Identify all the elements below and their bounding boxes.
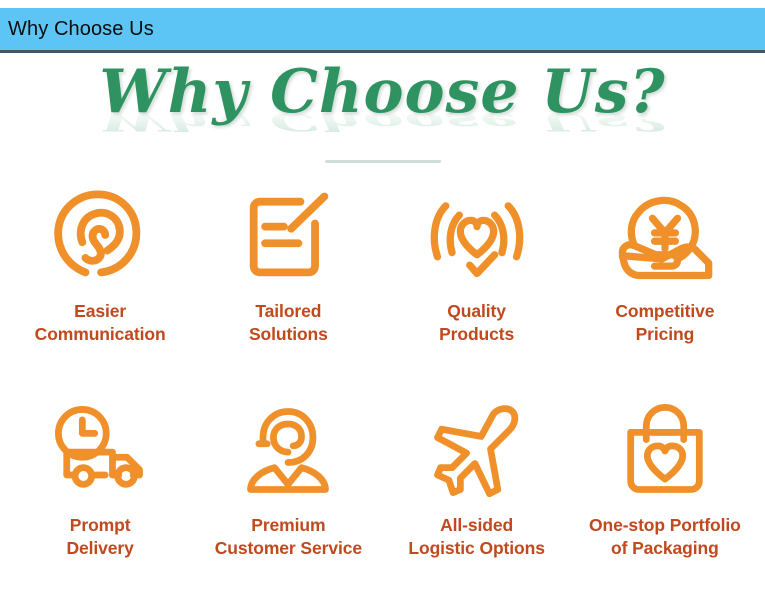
feature-label: Tailored Solutions	[249, 300, 328, 347]
shopping-bag-heart-icon	[613, 398, 717, 502]
feature-label: One-stop Portfolio of Packaging	[589, 514, 741, 561]
headset-agent-icon	[236, 398, 340, 502]
feature-item-easier-communication[interactable]: Easier Communication	[6, 174, 194, 388]
page-content: Why Choose Us? Why Choose Us? Easier Com…	[0, 56, 765, 599]
feature-item-one-stop-portfolio-packaging[interactable]: One-stop Portfolio of Packaging	[571, 388, 759, 602]
document-pen-icon	[236, 184, 340, 288]
feature-item-quality-products[interactable]: Quality Products	[383, 174, 571, 388]
feature-item-prompt-delivery[interactable]: Prompt Delivery	[6, 388, 194, 602]
feature-label: Prompt Delivery	[66, 514, 133, 561]
feature-grid: Easier Communication Tailored Solutions	[0, 174, 765, 602]
hero-title: Why Choose Us?	[0, 62, 765, 122]
feature-item-premium-customer-service[interactable]: Premium Customer Service	[194, 388, 382, 602]
feature-item-tailored-solutions[interactable]: Tailored Solutions	[194, 174, 382, 388]
feature-label: Easier Communication	[35, 300, 166, 347]
feature-label: Premium Customer Service	[215, 514, 362, 561]
hero-section: Why Choose Us? Why Choose Us?	[0, 56, 765, 174]
feature-item-all-sided-logistic-options[interactable]: All-sided Logistic Options	[383, 388, 571, 602]
airplane-icon	[425, 398, 529, 502]
ear-listening-icon	[48, 184, 152, 288]
heart-check-signal-icon	[425, 184, 529, 288]
feature-item-competitive-pricing[interactable]: Competitive Pricing	[571, 174, 759, 388]
page-title: Why Choose Us	[0, 18, 154, 41]
hand-yen-coin-icon	[613, 184, 717, 288]
feature-label: Competitive Pricing	[615, 300, 714, 347]
window-header-bar: Why Choose Us	[0, 8, 765, 53]
feature-label: All-sided Logistic Options	[408, 514, 544, 561]
delivery-truck-clock-icon	[48, 398, 152, 502]
hero-divider	[325, 160, 441, 163]
feature-label: Quality Products	[439, 300, 514, 347]
